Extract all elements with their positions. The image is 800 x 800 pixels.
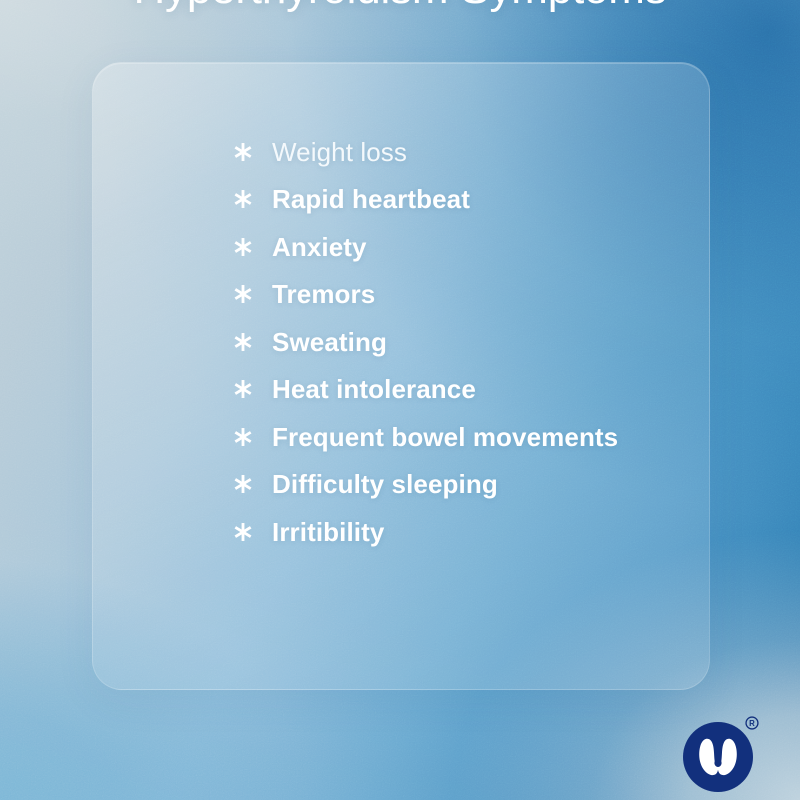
poster-canvas: Hyperthyroidism Symptoms Weight loss <box>0 0 800 800</box>
asterisk-icon <box>232 520 254 544</box>
asterisk-icon <box>232 330 254 354</box>
asterisk-icon <box>232 235 254 259</box>
list-item: Weight loss <box>232 128 702 176</box>
symptom-label: Heat intolerance <box>272 376 476 402</box>
list-item: Anxiety <box>232 223 702 271</box>
symptom-label: Sweating <box>272 329 387 355</box>
page-title: Hyperthyroidism Symptoms <box>0 0 800 20</box>
symptom-label: Anxiety <box>272 234 367 260</box>
svg-text:R: R <box>749 719 755 728</box>
list-item: Sweating <box>232 318 702 366</box>
list-item: Rapid heartbeat <box>232 176 702 224</box>
asterisk-icon <box>232 472 254 496</box>
list-item: Difficulty sleeping <box>232 461 702 509</box>
asterisk-icon <box>232 140 254 164</box>
asterisk-icon <box>232 425 254 449</box>
asterisk-icon <box>232 377 254 401</box>
symptom-label: Frequent bowel movements <box>272 424 618 450</box>
symptom-label: Irritibility <box>272 519 384 545</box>
symptom-label: Difficulty sleeping <box>272 471 498 497</box>
asterisk-icon <box>232 187 254 211</box>
brand-logo: R <box>683 722 757 796</box>
list-item: Frequent bowel movements <box>232 413 702 461</box>
symptom-list: Weight loss Rapid heartbeat Anxiety <box>232 128 702 556</box>
symptom-label: Rapid heartbeat <box>272 186 470 212</box>
registered-trademark-icon: R <box>745 716 759 730</box>
asterisk-icon <box>232 282 254 306</box>
list-item: Irritibility <box>232 508 702 556</box>
list-item: Heat intolerance <box>232 366 702 414</box>
symptom-label: Tremors <box>272 281 375 307</box>
symptom-label: Weight loss <box>272 139 407 165</box>
thyroid-gland-logo-icon <box>683 722 753 792</box>
list-item: Tremors <box>232 271 702 319</box>
